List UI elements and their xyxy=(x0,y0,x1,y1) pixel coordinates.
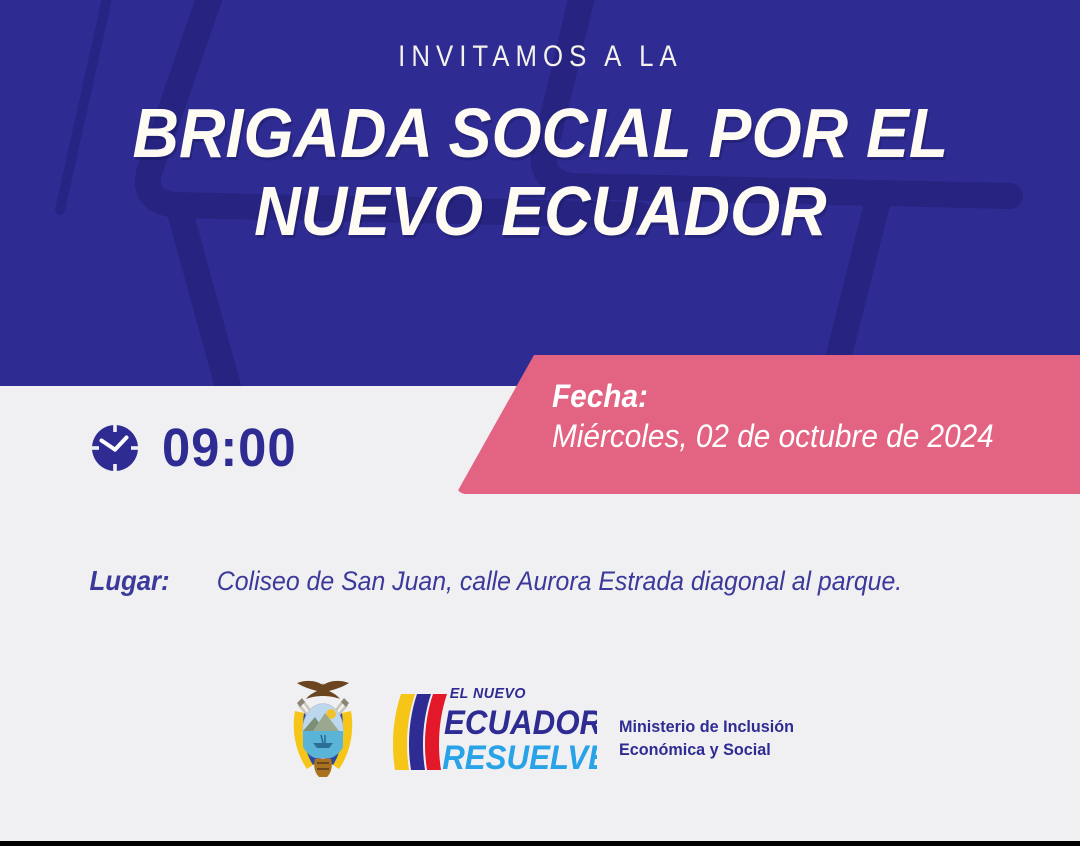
poster-title-line-2: NUEVO ECUADOR xyxy=(132,172,948,250)
ministry-name: Ministerio de Inclusión Económica y Soci… xyxy=(619,716,794,762)
event-place: Lugar: Coliseo de San Juan, calle Aurora… xyxy=(86,565,932,597)
bottom-black-bar xyxy=(0,841,1080,846)
place-value: Coliseo de San Juan, calle Aurora Estrad… xyxy=(217,566,902,597)
el-nuevo-ecuador-resuelve-logo: EL NUEVO ECUADOR RESUELVE xyxy=(387,672,597,782)
logo-line-resuelve: RESUELVE xyxy=(442,738,597,777)
event-time: 09:00 xyxy=(88,421,305,475)
place-label: Lugar: xyxy=(89,565,169,597)
poster-title: BRIGADA SOCIAL POR EL NUEVO ECUADOR xyxy=(97,94,984,251)
date-value: Miércoles, 02 de octubre de 2024 xyxy=(552,416,1036,457)
time-value: 09:00 xyxy=(162,421,297,475)
ecuador-flag-stripes-icon xyxy=(393,694,447,770)
date-banner-text: Fecha: Miércoles, 02 de octubre de 2024 xyxy=(552,377,1072,457)
poster-header: INVITAMOS A LA BRIGADA SOCIAL POR EL NUE… xyxy=(0,0,1080,386)
ministry-name-line-2: Económica y Social xyxy=(619,739,794,762)
ministry-name-line-1: Ministerio de Inclusión xyxy=(619,716,794,739)
clock-icon xyxy=(88,421,142,475)
ecuador-coat-of-arms-icon xyxy=(277,673,369,781)
logo-line-el-nuevo: EL NUEVO xyxy=(450,686,526,702)
poster-title-line-1: BRIGADA SOCIAL POR EL xyxy=(132,94,948,172)
header-content: INVITAMOS A LA BRIGADA SOCIAL POR EL NUE… xyxy=(0,0,1080,386)
date-label: Fecha: xyxy=(552,377,1036,416)
logo-line-ecuador: ECUADOR xyxy=(444,703,597,742)
event-invitation-poster: INVITAMOS A LA BRIGADA SOCIAL POR EL NUE… xyxy=(0,0,1080,846)
poster-footer: EL NUEVO ECUADOR RESUELVE Ministerio de … xyxy=(0,672,1080,782)
invitation-eyebrow: INVITAMOS A LA xyxy=(398,42,683,72)
